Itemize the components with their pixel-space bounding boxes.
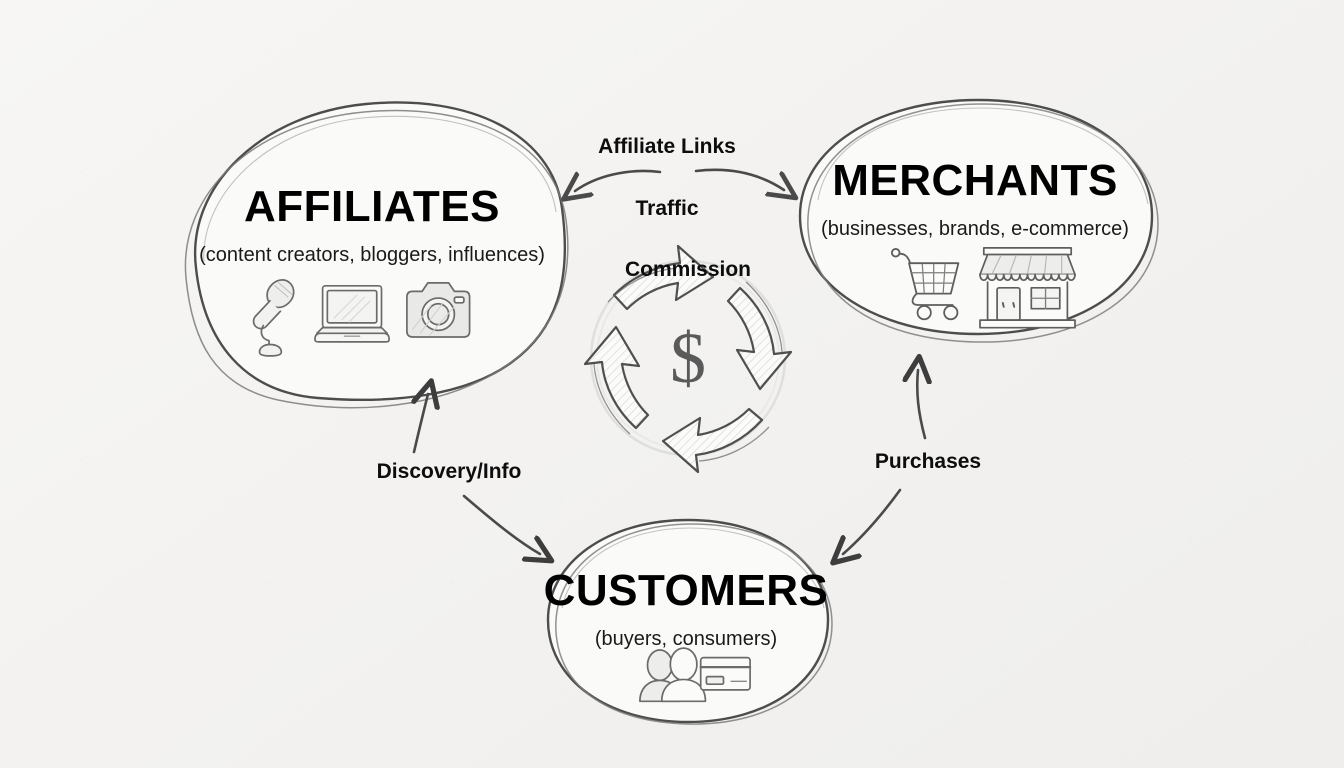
affiliates-subtitle: (content creators, bloggers, influences) <box>162 244 582 267</box>
diagram-canvas: AFFILIATES (content creators, bloggers, … <box>0 0 1344 768</box>
edge-label-commission: Commission <box>625 259 751 280</box>
edge-label-purchases: Purchases <box>875 451 981 472</box>
arrow-affiliates-customers <box>464 496 540 554</box>
arrow-affiliates-merchants-right <box>696 170 784 190</box>
arrow-customers-affiliates <box>414 394 428 452</box>
edge-label-traffic: Traffic <box>635 198 698 219</box>
node-customers[interactable]: CUSTOMERS (buyers, consumers) <box>506 566 866 651</box>
node-merchants[interactable]: MERCHANTS (businesses, brands, e-commerc… <box>775 156 1175 241</box>
laptop-icon <box>315 286 389 342</box>
node-affiliates[interactable]: AFFILIATES (content creators, bloggers, … <box>162 182 582 267</box>
edge-label-discovery-info: Discovery/Info <box>377 461 522 482</box>
camera-icon <box>407 283 470 337</box>
merchants-subtitle: (businesses, brands, e-commerce) <box>775 218 1175 241</box>
dollar-symbol: $ <box>670 322 706 394</box>
arrow-affiliates-merchants-left <box>575 171 660 191</box>
arrow-merchants-customers <box>843 490 900 554</box>
customers-title: CUSTOMERS <box>506 566 866 616</box>
edge-label-affiliate-links: Affiliate Links <box>598 136 736 157</box>
storefront-icon <box>980 248 1075 328</box>
customers-subtitle: (buyers, consumers) <box>506 628 866 651</box>
affiliates-title: AFFILIATES <box>162 182 582 232</box>
arrow-customers-merchants <box>917 370 925 438</box>
merchants-title: MERCHANTS <box>775 156 1175 206</box>
